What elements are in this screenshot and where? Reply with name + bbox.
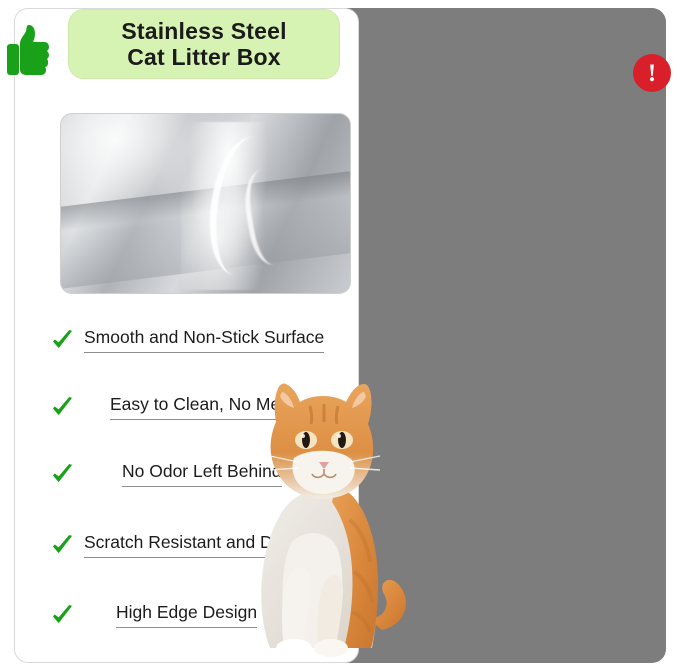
exclamation-glyph: ! bbox=[648, 61, 656, 86]
list-item-label: Smooth and Non-Stick Surface bbox=[84, 327, 324, 353]
green-check-icon bbox=[51, 604, 74, 627]
stainless-title-line-2: Cat Litter Box bbox=[121, 44, 286, 70]
green-check-icon bbox=[51, 396, 74, 419]
list-item: Smooth and Non-Stick Surface bbox=[51, 327, 324, 353]
green-check-icon bbox=[51, 463, 74, 486]
thumbs-up-icon bbox=[6, 24, 50, 76]
green-check-icon bbox=[51, 329, 74, 352]
cat-image bbox=[232, 362, 414, 658]
stainless-litter-box-photo bbox=[60, 113, 351, 294]
stainless-title-line-1: Stainless Steel bbox=[121, 18, 286, 44]
green-check-icon bbox=[51, 534, 74, 557]
stainless-title-pill: Stainless Steel Cat Litter Box bbox=[68, 9, 340, 79]
list-item: High Edge Design bbox=[51, 602, 257, 628]
comparison-infographic: Plastic Material ✕ Easy Have Residue ✕ D… bbox=[0, 0, 679, 671]
exclamation-icon: ! bbox=[633, 54, 671, 92]
